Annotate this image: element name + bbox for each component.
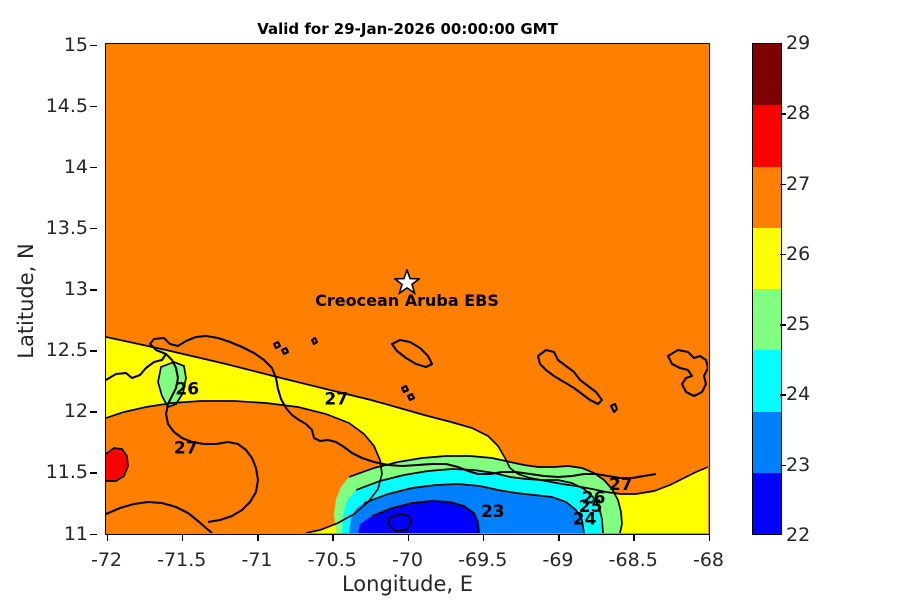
- contour-label: 27: [324, 390, 348, 410]
- colorbar-band: [753, 350, 781, 411]
- colorbar[interactable]: [752, 43, 782, 535]
- y-axis-tick-mark: [90, 472, 97, 474]
- colorbar-tick-label: 26: [786, 243, 810, 265]
- colorbar-band: [753, 44, 781, 105]
- y-axis-tick-mark: [90, 534, 97, 536]
- x-axis-tick-mark: [332, 534, 334, 541]
- colorbar-tick-mark: [780, 394, 786, 396]
- colorbar-tick-mark: [780, 465, 786, 467]
- x-axis-tick-mark: [558, 534, 560, 541]
- y-axis-tick-mark: [90, 228, 97, 230]
- colorbar-band: [753, 473, 781, 534]
- colorbar-band: [753, 105, 781, 166]
- colorbar-tick-label: 29: [786, 32, 810, 54]
- y-axis-tick-mark: [90, 45, 97, 47]
- y-axis-tick-mark: [90, 167, 97, 169]
- page-title: Valid for 29-Jan-2026 00:00:00 GMT: [105, 20, 710, 38]
- contour-label: 27: [174, 438, 198, 458]
- x-axis-tick-label: -68: [693, 549, 724, 571]
- colorbar-tick-mark: [780, 113, 786, 115]
- x-axis-tick-label: -71: [241, 549, 272, 571]
- contour-plot-area[interactable]: 2627272324252627 Creocean Aruba EBS: [105, 43, 710, 535]
- x-axis-tick-label: -69: [542, 549, 573, 571]
- x-axis-tick-mark: [633, 534, 635, 541]
- colorbar-band: [753, 228, 781, 289]
- colorbar-ticks: 2223242526272829: [786, 43, 838, 535]
- x-axis-tick-mark: [182, 534, 184, 541]
- y-axis-tick-mark: [90, 289, 97, 291]
- x-axis-tick-label: -68.5: [609, 549, 658, 571]
- y-axis-label: Latitude, N: [14, 191, 38, 411]
- contour-label: 26: [175, 380, 199, 400]
- colorbar-tick-label: 25: [786, 313, 810, 335]
- colorbar-tick-mark: [780, 324, 786, 326]
- y-axis-tick-mark: [90, 350, 97, 352]
- colorbar-tick-label: 24: [786, 383, 810, 405]
- colorbar-tick-label: 23: [786, 454, 810, 476]
- colorbar-tick-mark: [780, 254, 786, 256]
- x-axis-tick-label: -72: [91, 549, 122, 571]
- colorbar-band: [753, 289, 781, 350]
- contour-label: 23: [481, 502, 505, 522]
- x-axis-tick-label: -71.5: [157, 549, 206, 571]
- colorbar-band: [753, 167, 781, 228]
- x-axis-label: Longitude, E: [105, 572, 710, 596]
- x-axis-tick-mark: [709, 534, 711, 541]
- contour-label: 26: [582, 489, 606, 509]
- x-axis-tick-label: -70.5: [308, 549, 357, 571]
- figure-canvas: Valid for 29-Jan-2026 00:00:00 GMT 1111.…: [0, 0, 900, 600]
- x-axis-tick-label: -69.5: [458, 549, 507, 571]
- colorbar-tick-label: 27: [786, 173, 810, 195]
- x-axis-ticks: -72-71.5-71-70.5-70-69.5-69-68.5-68: [105, 541, 710, 569]
- x-axis-tick-label: -70: [392, 549, 423, 571]
- colorbar-tick-mark: [780, 184, 786, 186]
- colorbar-tick-label: 28: [786, 102, 810, 124]
- contour-map-svg: 2627272324252627: [106, 44, 708, 533]
- x-axis-tick-mark: [408, 534, 410, 541]
- x-axis-tick-mark: [107, 534, 109, 541]
- colorbar-band: [753, 412, 781, 473]
- y-axis-tick-mark: [90, 411, 97, 413]
- colorbar-tick-label: 22: [786, 524, 810, 546]
- y-axis-tick-mark: [90, 106, 97, 108]
- x-axis-tick-mark: [257, 534, 259, 541]
- x-axis-tick-mark: [483, 534, 485, 541]
- contour-label: 27: [609, 475, 633, 495]
